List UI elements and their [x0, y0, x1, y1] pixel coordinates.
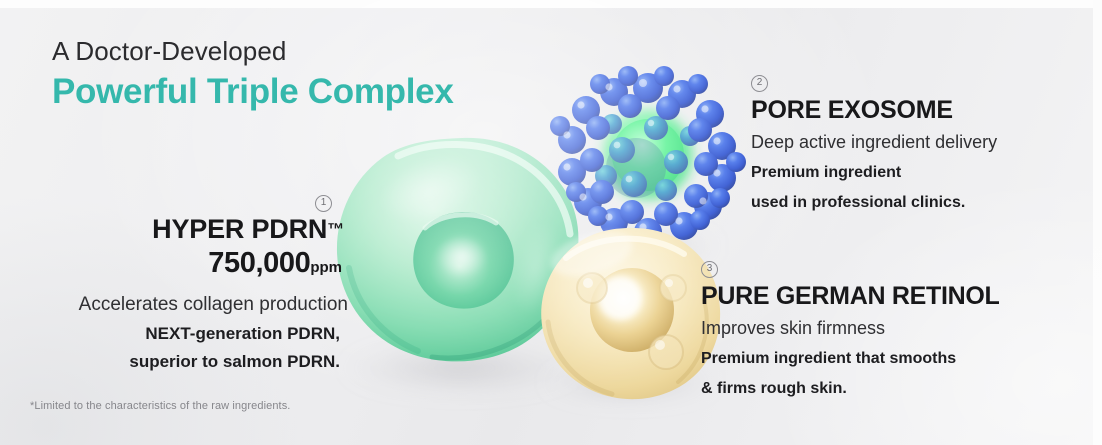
ingredient-block-pure-german-retinol: 3 PURE GERMAN RETINOL Improves skin firm… — [701, 258, 1061, 401]
ingredient-detail-3-line-1: Premium ingredient that smooths — [701, 347, 1061, 371]
number-badge-3-icon: 3 — [701, 261, 718, 278]
marker-row-3: 3 — [701, 258, 1061, 278]
ingredient-name-3: PURE GERMAN RETINOL — [701, 281, 1061, 311]
ingredient-name-1: HYPER PDRN™ — [18, 213, 348, 245]
headline-title: Powerful Triple Complex — [52, 70, 454, 114]
ingredient-block-pore-exosome: 2 PORE EXOSOME Deep active ingredient de… — [751, 72, 1081, 215]
marker-row-2: 2 — [751, 72, 1081, 92]
ingredient-detail-1-line-2: superior to salmon PDRN. — [18, 349, 348, 374]
blue-sphere-cluster-visual — [550, 66, 746, 246]
ingredient-benefit-1: Accelerates collagen production — [18, 292, 348, 318]
green-gel-blob-visual — [337, 138, 578, 362]
infographic-canvas: A Doctor-Developed Powerful Triple Compl… — [0, 0, 1102, 445]
ingredient-block-hyper-pdrn: 1 HYPER PDRN™ 750,000ppm Accelerates col… — [18, 192, 348, 374]
ingredient-amount-1: 750,000ppm — [18, 245, 348, 286]
ingredient-name-2: PORE EXOSOME — [751, 95, 1081, 125]
headline: A Doctor-Developed Powerful Triple Compl… — [52, 36, 454, 114]
ingredient-name-1-text: HYPER PDRN — [152, 214, 327, 244]
trademark-icon: ™ — [327, 220, 344, 239]
headline-eyebrow: A Doctor-Developed — [52, 36, 454, 66]
ingredient-detail-1-line-1: NEXT-generation PDRN, — [18, 321, 348, 346]
background-right-band — [1093, 0, 1102, 445]
ingredient-benefit-2: Deep active ingredient delivery — [751, 129, 1081, 155]
ingredient-detail-2-line-2: used in professional clinics. — [751, 191, 1081, 215]
ingredient-amount-1-unit: ppm — [310, 259, 342, 276]
marker-row-1: 1 — [18, 192, 332, 212]
number-badge-1-icon: 1 — [315, 195, 332, 212]
ingredient-detail-3-line-2: & firms rough skin. — [701, 377, 1061, 401]
number-badge-2-icon: 2 — [751, 75, 768, 92]
ingredient-amount-1-value: 750,000 — [208, 247, 310, 279]
background-top-band — [0, 0, 1102, 8]
ingredient-detail-2-line-1: Premium ingredient — [751, 161, 1081, 185]
footnote: *Limited to the characteristics of the r… — [30, 400, 290, 412]
ingredient-benefit-3: Improves skin firmness — [701, 315, 1061, 341]
golden-oil-blob-visual — [541, 223, 720, 399]
